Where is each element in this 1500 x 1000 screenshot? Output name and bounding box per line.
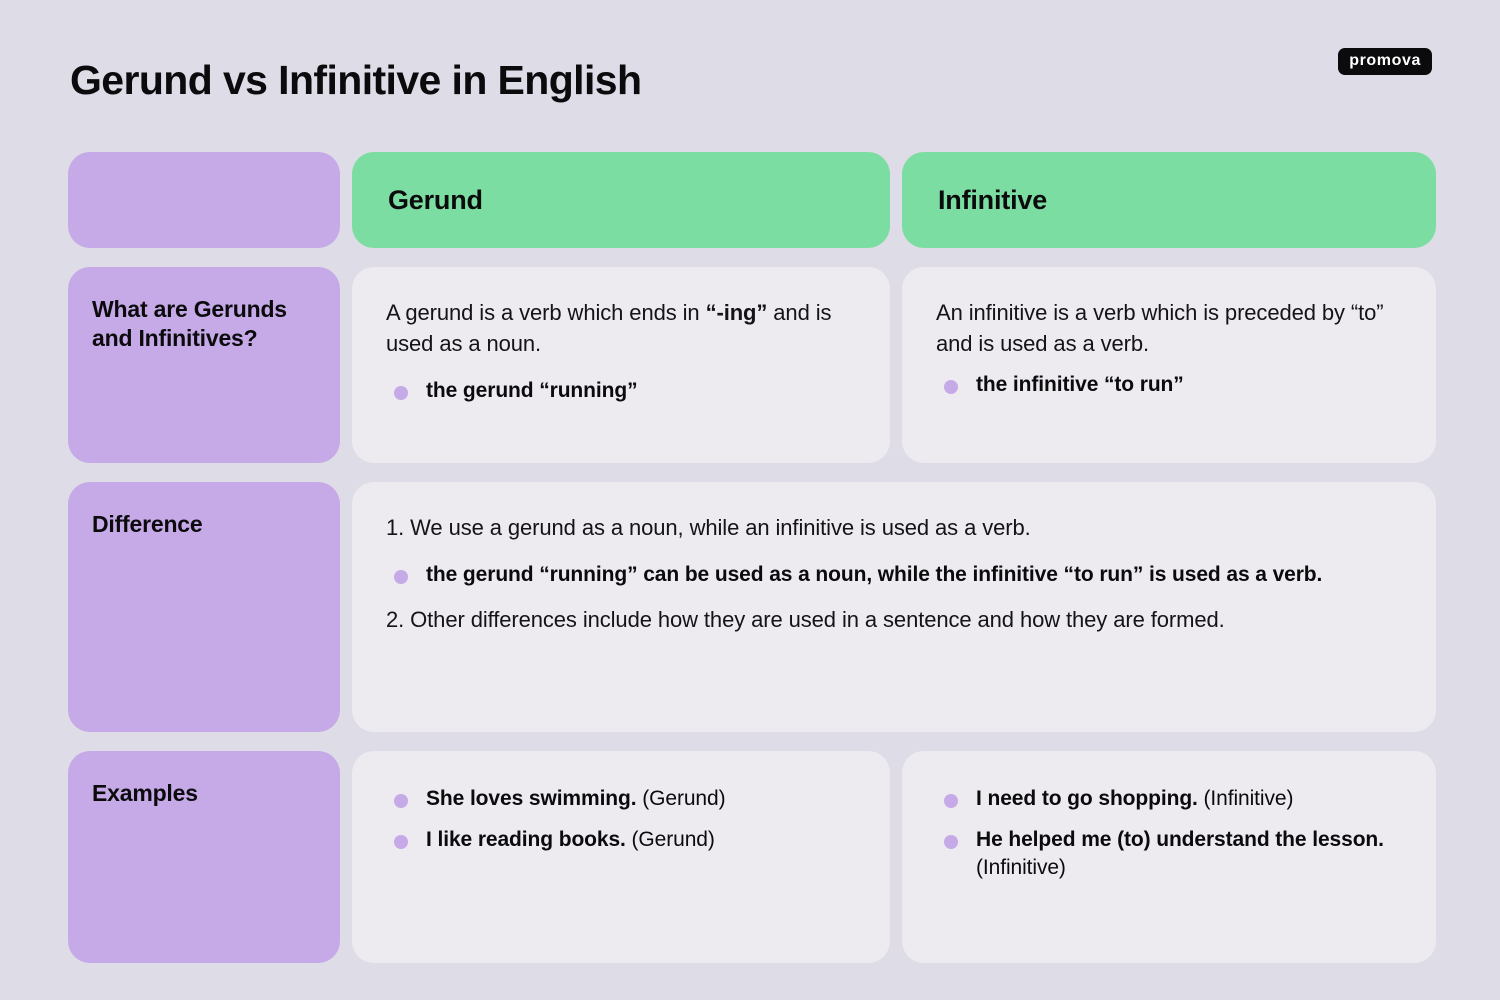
list-item: the gerund “running” can be used as a no… (386, 561, 1402, 590)
list-item-tag: (Gerund) (626, 828, 715, 851)
list-item: She loves swimming. (Gerund) (386, 785, 856, 814)
bullet-dot-icon (394, 794, 408, 808)
cell-definitions-infinitive: An infinitive is a verb which is precede… (902, 267, 1436, 463)
cell-difference-content: 1. We use a gerund as a noun, while an i… (352, 482, 1436, 732)
difference-paragraph-1: 1. We use a gerund as a noun, while an i… (386, 512, 1402, 543)
cell-examples-infinitive: I need to go shopping. (Infinitive) He h… (902, 751, 1436, 963)
row-label-definitions: What are Gerunds and Infinitives? (68, 267, 340, 463)
list-item-strong: I like reading books. (426, 828, 626, 851)
list-item: I like reading books. (Gerund) (386, 826, 856, 855)
list-item-tag: (Infinitive) (1198, 787, 1294, 810)
examples-gerund-bullets: She loves swimming. (Gerund) I like read… (386, 785, 856, 854)
row-label-difference-text: Difference (92, 510, 316, 539)
difference-paragraph-2: 2. Other differences include how they ar… (386, 604, 1402, 635)
column-header-infinitive-label: Infinitive (938, 185, 1047, 216)
list-item-strong: the infinitive “to run” (976, 373, 1184, 396)
difference-bullets: the gerund “running” can be used as a no… (386, 561, 1402, 590)
definition-infinitive-bullets: the infinitive “to run” (936, 371, 1402, 400)
list-item-tag: (Gerund) (637, 787, 726, 810)
cell-definitions-gerund: A gerund is a verb which ends in “-ing” … (352, 267, 890, 463)
list-item-strong: the gerund “running” can be used as a no… (426, 563, 1322, 586)
definition-gerund-bullets: the gerund “running” (386, 377, 856, 406)
header-bar: Gerund vs Infinitive in English promova (0, 0, 1500, 150)
list-item-strong: the gerund “running” (426, 379, 637, 402)
comparison-table: Gerund Infinitive What are Gerunds and I… (68, 152, 1432, 963)
definition-infinitive-paragraph: An infinitive is a verb which is precede… (936, 297, 1402, 359)
bullet-dot-icon (394, 570, 408, 584)
examples-infinitive-bullets: I need to go shopping. (Infinitive) He h… (936, 785, 1402, 883)
list-item-strong: I need to go shopping. (976, 787, 1198, 810)
list-item-strong: She loves swimming. (426, 787, 637, 810)
list-item: I need to go shopping. (Infinitive) (936, 785, 1402, 814)
bullet-dot-icon (394, 386, 408, 400)
bullet-dot-icon (944, 835, 958, 849)
column-header-gerund: Gerund (352, 152, 890, 248)
table-corner-cell (68, 152, 340, 248)
column-header-gerund-label: Gerund (388, 185, 483, 216)
definition-gerund-paragraph: A gerund is a verb which ends in “-ing” … (386, 297, 856, 359)
cell-examples-gerund: She loves swimming. (Gerund) I like read… (352, 751, 890, 963)
row-label-definitions-text: What are Gerunds and Infinitives? (92, 295, 316, 354)
list-item: He helped me (to) understand the lesson.… (936, 826, 1402, 883)
row-label-examples: Examples (68, 751, 340, 963)
definition-gerund-lead: A gerund is a verb which ends in (386, 300, 706, 325)
bullet-dot-icon (944, 794, 958, 808)
column-header-infinitive: Infinitive (902, 152, 1436, 248)
bullet-dot-icon (944, 380, 958, 394)
page-title: Gerund vs Infinitive in English (70, 58, 641, 103)
definition-gerund-bold: “-ing” (706, 300, 768, 325)
bullet-dot-icon (394, 835, 408, 849)
row-label-difference: Difference (68, 482, 340, 732)
infographic-page: Gerund vs Infinitive in English promova … (0, 0, 1500, 1000)
list-item: the infinitive “to run” (936, 371, 1402, 400)
promova-logo: promova (1338, 48, 1432, 75)
list-item-tag: (Infinitive) (976, 856, 1066, 879)
row-label-examples-text: Examples (92, 779, 316, 808)
list-item: the gerund “running” (386, 377, 856, 406)
list-item-strong: He helped me (to) understand the lesson. (976, 828, 1384, 851)
